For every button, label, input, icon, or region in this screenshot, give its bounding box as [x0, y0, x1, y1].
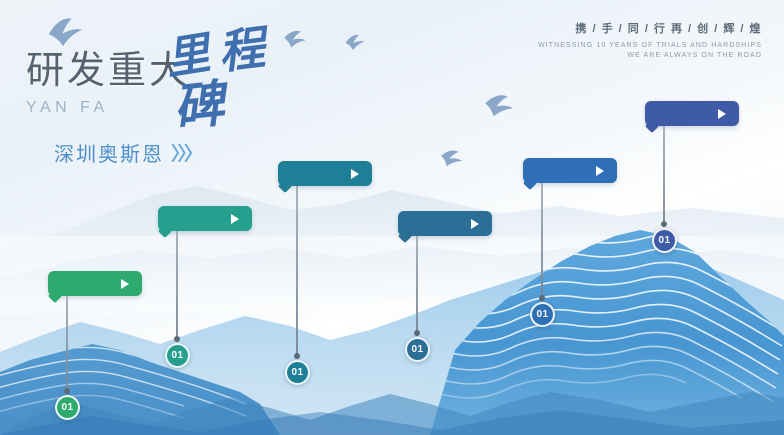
bird-4-icon — [483, 92, 515, 119]
milestone-2-connector-dot — [174, 336, 180, 342]
milestone-3-node[interactable]: 01 — [285, 360, 310, 385]
milestone-2-connector — [176, 231, 178, 342]
slogan-block: 携 / 手 / 同 / 行 再 / 创 / 辉 / 煌 WITNESSING 1… — [538, 20, 762, 59]
chevron-right-icon: 〉〉〉 — [171, 139, 200, 166]
brush-char-3: 碑 — [169, 64, 226, 141]
play-icon — [471, 219, 479, 229]
milestone-3[interactable] — [278, 161, 372, 186]
play-icon — [718, 109, 726, 119]
milestone-3-connector — [296, 186, 298, 359]
milestone-4-connector-dot — [414, 330, 420, 336]
milestone-5-connector — [541, 183, 543, 301]
milestone-4-label-box[interactable] — [398, 211, 492, 236]
company-name: 深圳奥斯恩 〉〉〉 — [54, 138, 200, 167]
brush-char-2: 程 — [214, 11, 268, 82]
milestone-5-label-box[interactable] — [523, 158, 617, 183]
milestone-1[interactable] — [48, 271, 142, 296]
milestone-1-connector — [66, 296, 68, 394]
milestone-6-connector — [663, 126, 665, 227]
milestone-6-connector-dot — [661, 221, 667, 227]
company-name-label: 深圳奥斯恩 — [54, 138, 164, 167]
milestone-3-number: 01 — [291, 367, 303, 378]
milestone-4-number: 01 — [411, 344, 423, 355]
milestone-2-node[interactable]: 01 — [165, 343, 190, 368]
slogan-chinese: 携 / 手 / 同 / 行 再 / 创 / 辉 / 煌 — [538, 20, 762, 36]
brush-calligraphy: 里 程 碑 — [163, 14, 283, 134]
bird-1-icon — [47, 17, 84, 48]
milestone-1-node[interactable]: 01 — [55, 395, 80, 420]
milestone-3-label-box[interactable] — [278, 161, 372, 186]
play-icon — [231, 214, 239, 224]
milestone-4-connector — [416, 236, 418, 336]
bird-2-icon — [283, 30, 306, 49]
milestone-5[interactable] — [523, 158, 617, 183]
milestone-5-node[interactable]: 01 — [530, 302, 555, 327]
milestone-6-number: 01 — [658, 235, 670, 246]
milestone-5-number: 01 — [536, 309, 548, 320]
milestone-2[interactable] — [158, 206, 252, 231]
milestone-1-connector-dot — [64, 388, 70, 394]
play-icon — [121, 279, 129, 289]
slogan-english-line2: WE ARE ALWAYS ON THE ROAD — [538, 52, 762, 59]
poster-canvas: 研发重大 YAN FA 深圳奥斯恩 〉〉〉 里 程 碑 携 / 手 / 同 / … — [0, 0, 784, 435]
play-icon — [351, 169, 359, 179]
milestone-4[interactable] — [398, 211, 492, 236]
milestone-2-label-box[interactable] — [158, 206, 252, 231]
milestone-4-node[interactable]: 01 — [405, 337, 430, 362]
slogan-english-line1: WITNESSING 10 YEARS OF TRIALS AND HARDSH… — [538, 42, 762, 49]
milestone-6-label-box[interactable] — [645, 101, 739, 126]
bird-5-icon — [439, 148, 464, 170]
milestone-1-label-box[interactable] — [48, 271, 142, 296]
bird-3-icon — [345, 34, 365, 50]
milestone-1-number: 01 — [61, 402, 73, 413]
milestone-6[interactable] — [645, 101, 739, 126]
play-icon — [596, 166, 604, 176]
milestone-2-number: 01 — [171, 350, 183, 361]
milestone-5-connector-dot — [539, 295, 545, 301]
milestone-3-connector-dot — [294, 353, 300, 359]
milestone-6-node[interactable]: 01 — [652, 228, 677, 253]
